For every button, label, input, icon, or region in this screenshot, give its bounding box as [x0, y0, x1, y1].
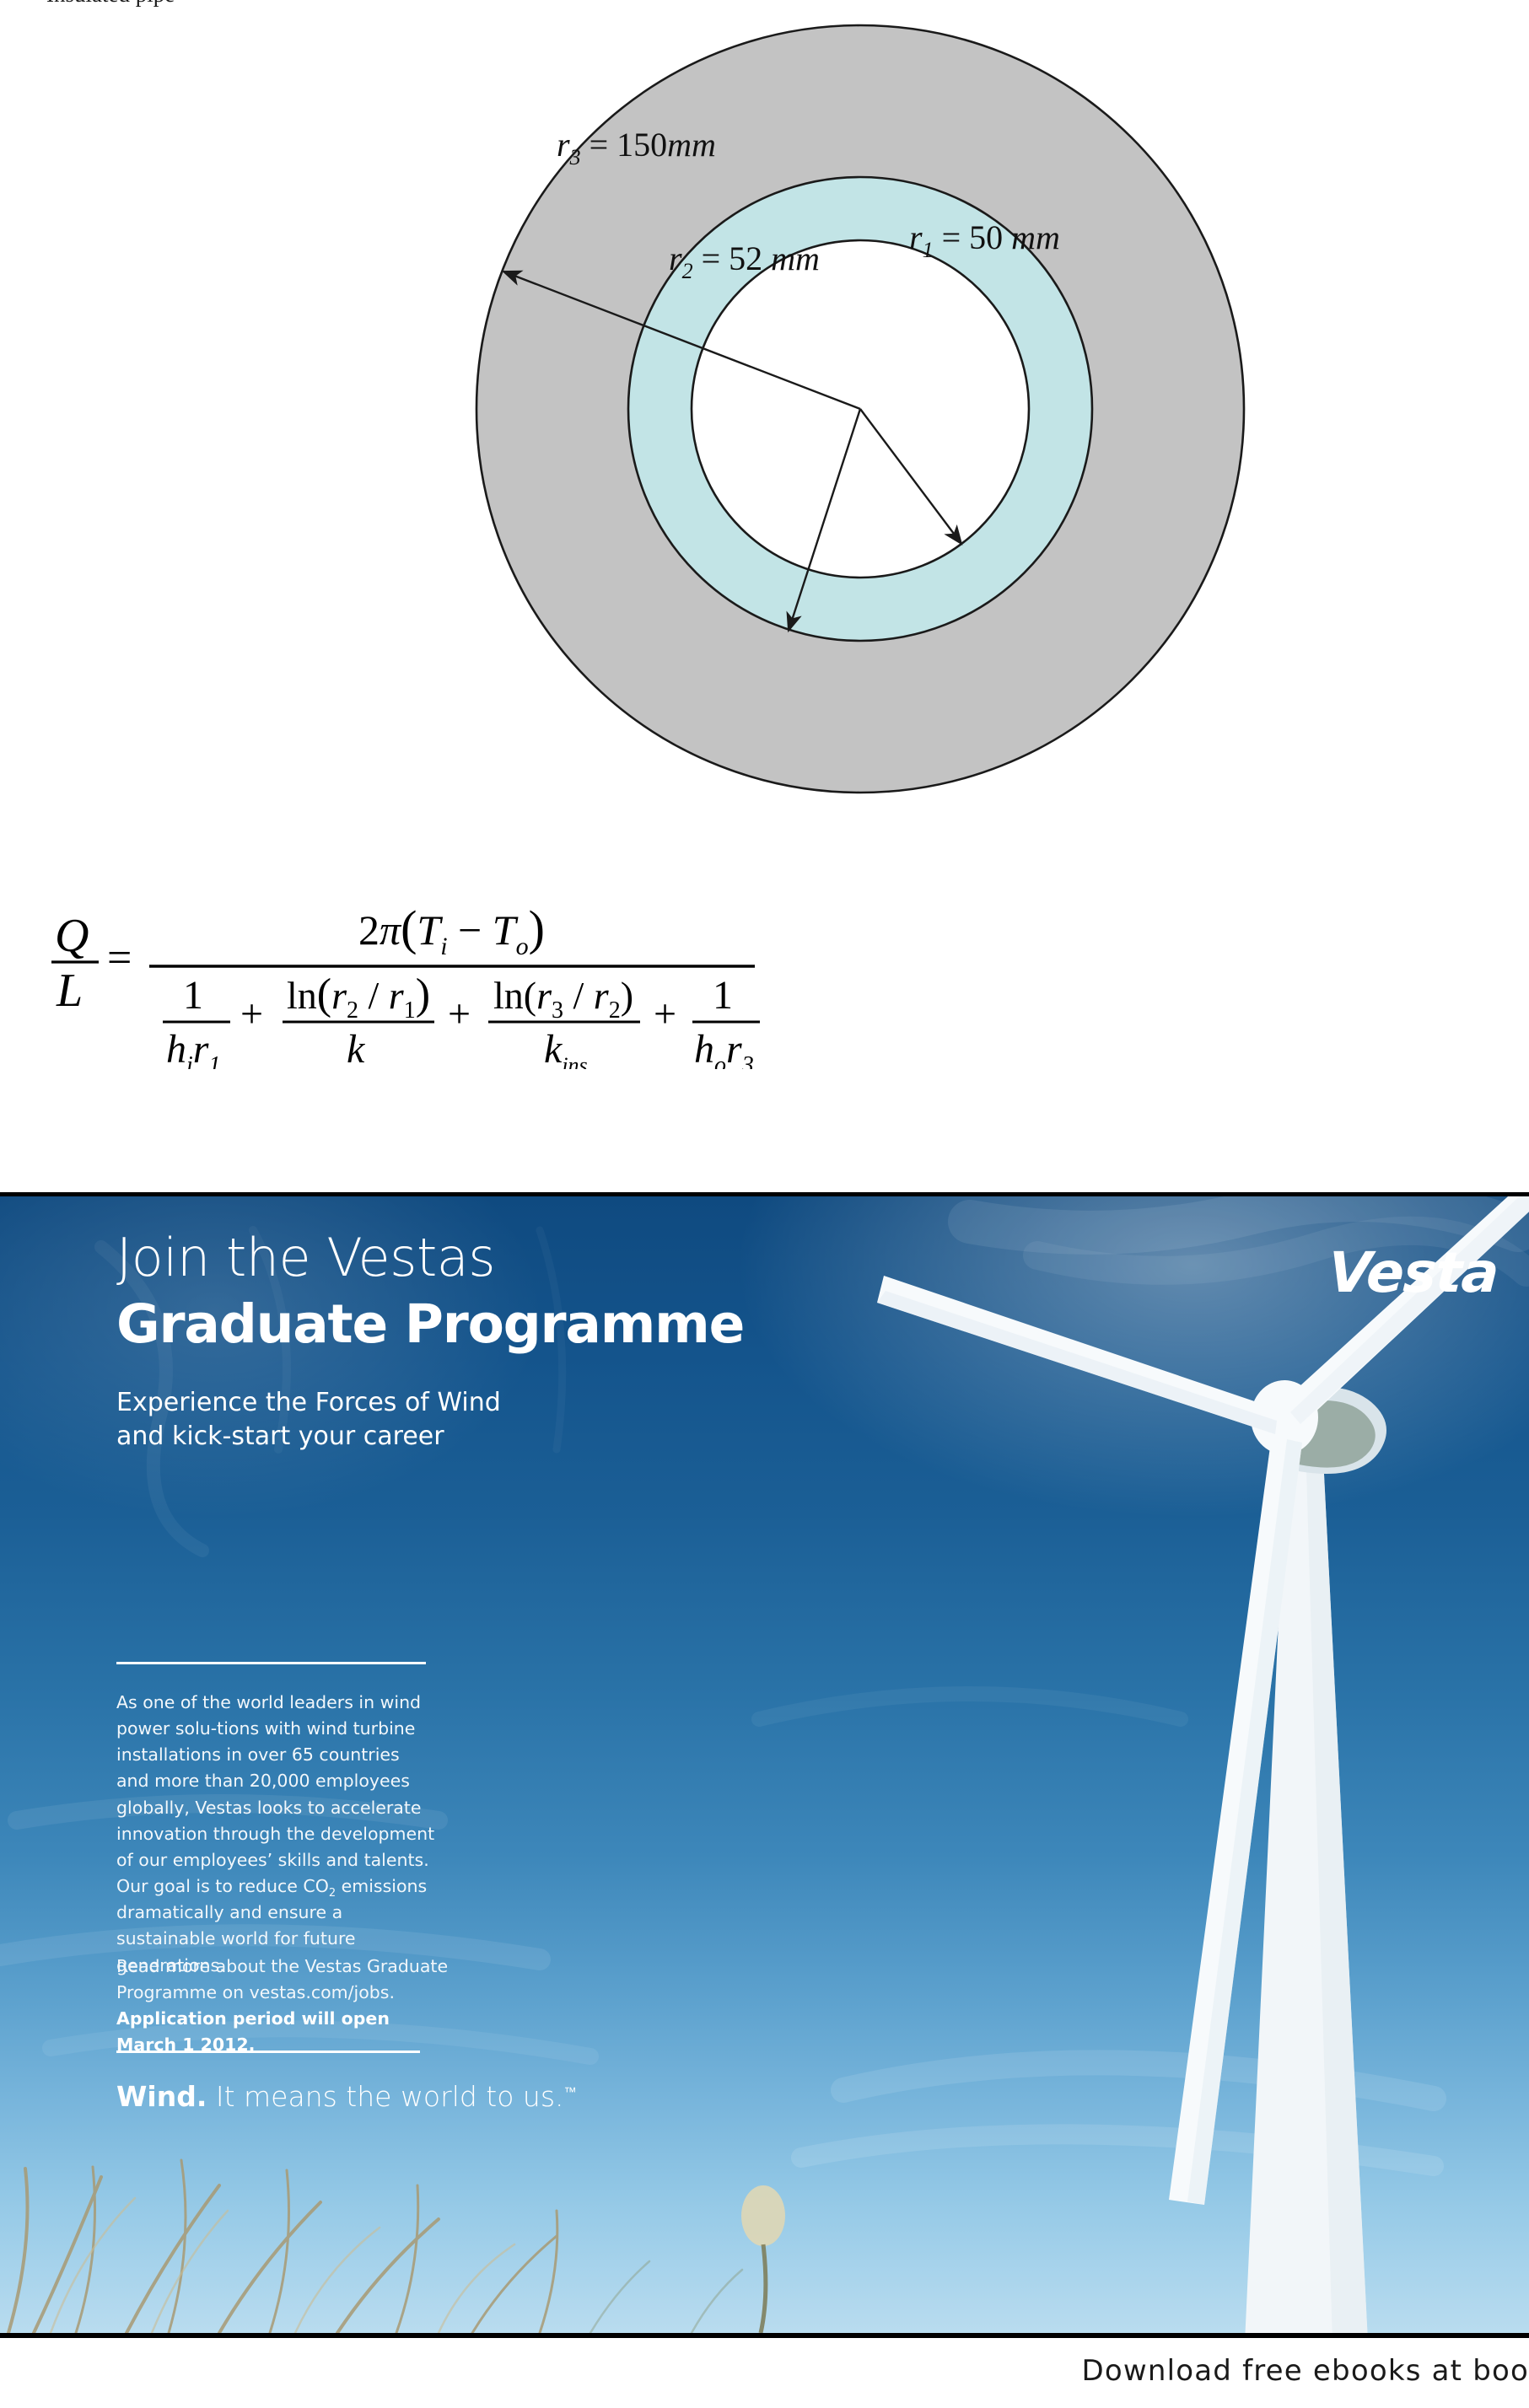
ad-body-part1: As one of the world leaders in wind powe… — [116, 1692, 434, 1896]
ad-subheadline-line1: Experience the Forces of Wind — [116, 1386, 639, 1420]
ad-read-more: Read more about the Vestas Graduate Prog… — [116, 1954, 454, 2059]
eq-term3-numerator: ln(r3 / r2) — [493, 974, 633, 1024]
insulated-pipe-diagram: r3 = 150mm r2 = 52 mm r1 = 50 mm — [0, 0, 1529, 826]
ad-body-copy: As one of the world leaders in wind powe… — [116, 1690, 435, 1979]
ad-headline-line1: Join the Vestas — [116, 1232, 495, 1284]
document-page: Insulated pipe r3 = 150mm — [0, 0, 1529, 2408]
ad-subheadline: Experience the Forces of Wind and kick-s… — [116, 1386, 639, 1454]
eq-term2-denominator: k — [347, 1027, 366, 1069]
eq-term4-numerator: 1 — [713, 973, 733, 1018]
ad-read-more-line2[interactable]: Programme on vestas.com/jobs. — [116, 1982, 395, 2002]
trademark-symbol: ™ — [564, 2084, 577, 2099]
eq-term1-numerator: 1 — [183, 973, 203, 1018]
eq-term3-denominator: kins — [544, 1027, 588, 1069]
eq-lhs-denominator: L — [56, 965, 83, 1017]
co2-subscript: 2 — [329, 1887, 336, 1900]
eq-plus-2: + — [448, 992, 471, 1036]
eq-numerator: 2π(Ti − To) — [358, 900, 545, 960]
ad-tagline: Wind. It means the world to us.™ — [116, 2080, 577, 2113]
eq-lhs-numerator: Q — [55, 910, 89, 962]
eq-term1-denominator: hir1 — [166, 1027, 220, 1069]
grass-foreground — [0, 2152, 1529, 2333]
ad-divider-top — [116, 1662, 426, 1664]
eq-term4-denominator: hor3 — [694, 1027, 754, 1069]
eq-term2-numerator: ln(r2 / r1) — [287, 970, 430, 1024]
eq-plus-1: + — [240, 992, 263, 1036]
eq-equals-sign: = — [107, 934, 132, 982]
ad-headline-line2: Graduate Programme — [116, 1298, 744, 1351]
footer-download-link[interactable]: Download free ebooks at boo — [1081, 2354, 1529, 2388]
ad-subheadline-line2: and kick-start your career — [116, 1420, 639, 1454]
vestas-advertisement[interactable]: Vesta Join the Vestas Graduate Programme… — [0, 1192, 1529, 2338]
eq-plus-3: + — [654, 992, 676, 1036]
vestas-logo: Vesta — [1327, 1240, 1499, 1305]
ad-divider-bottom — [116, 2051, 420, 2053]
r3-label: r3 = 150mm — [557, 126, 716, 169]
page-footer: Download free ebooks at boo — [0, 2349, 1529, 2408]
ad-tagline-rest: It means the world to us. — [207, 2080, 563, 2113]
ad-read-more-line1: Read more about the Vestas Graduate — [116, 1956, 448, 1976]
ad-tagline-bold: Wind. — [116, 2080, 207, 2113]
heat-transfer-equation: Q L = 2π(Ti − To) 1 hir1 + — [38, 867, 797, 1069]
